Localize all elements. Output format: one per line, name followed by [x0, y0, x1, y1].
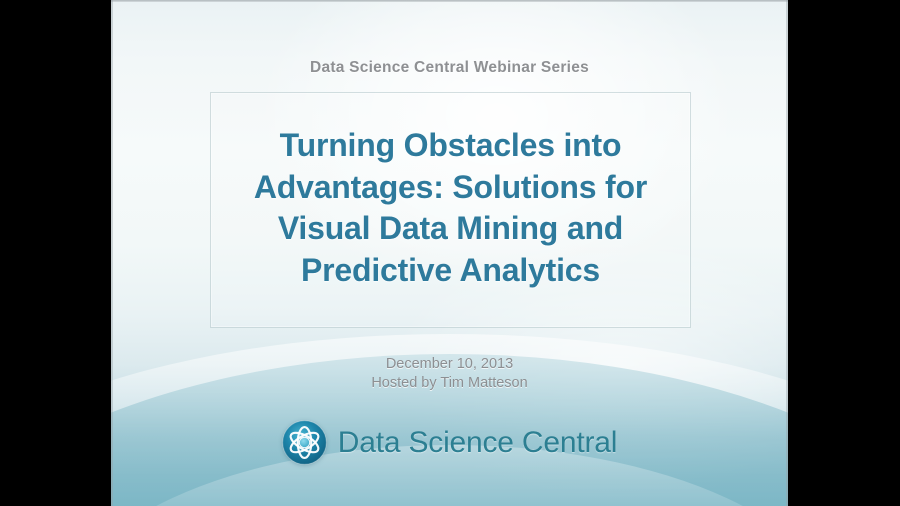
atom-icon — [282, 420, 327, 465]
slide-title-line-4: Predictive Analytics — [210, 250, 691, 292]
letterbox-bar-left — [0, 0, 111, 506]
slide-meta: December 10, 2013 Hosted by Tim Matteson — [111, 355, 788, 393]
slide-title: Turning Obstacles into Advantages: Solut… — [210, 125, 691, 291]
brand-name: Data Science Central — [338, 428, 617, 458]
slide-title-line-2: Advantages: Solutions for — [210, 167, 691, 209]
letterbox-bar-right — [788, 0, 900, 506]
webinar-series-label: Data Science Central Webinar Series — [111, 59, 788, 77]
brand-lockup: Data Science Central — [111, 420, 788, 465]
webinar-host: Hosted by Tim Matteson — [111, 374, 788, 393]
video-player-stage: Data Science Central Webinar Series Turn… — [0, 0, 900, 506]
slide-title-line-1: Turning Obstacles into — [210, 125, 691, 167]
slide-content: Data Science Central Webinar Series Turn… — [111, 0, 788, 506]
webinar-date: December 10, 2013 — [111, 355, 788, 374]
slide-title-line-3: Visual Data Mining and — [210, 208, 691, 250]
presentation-slide: Data Science Central Webinar Series Turn… — [111, 0, 788, 506]
